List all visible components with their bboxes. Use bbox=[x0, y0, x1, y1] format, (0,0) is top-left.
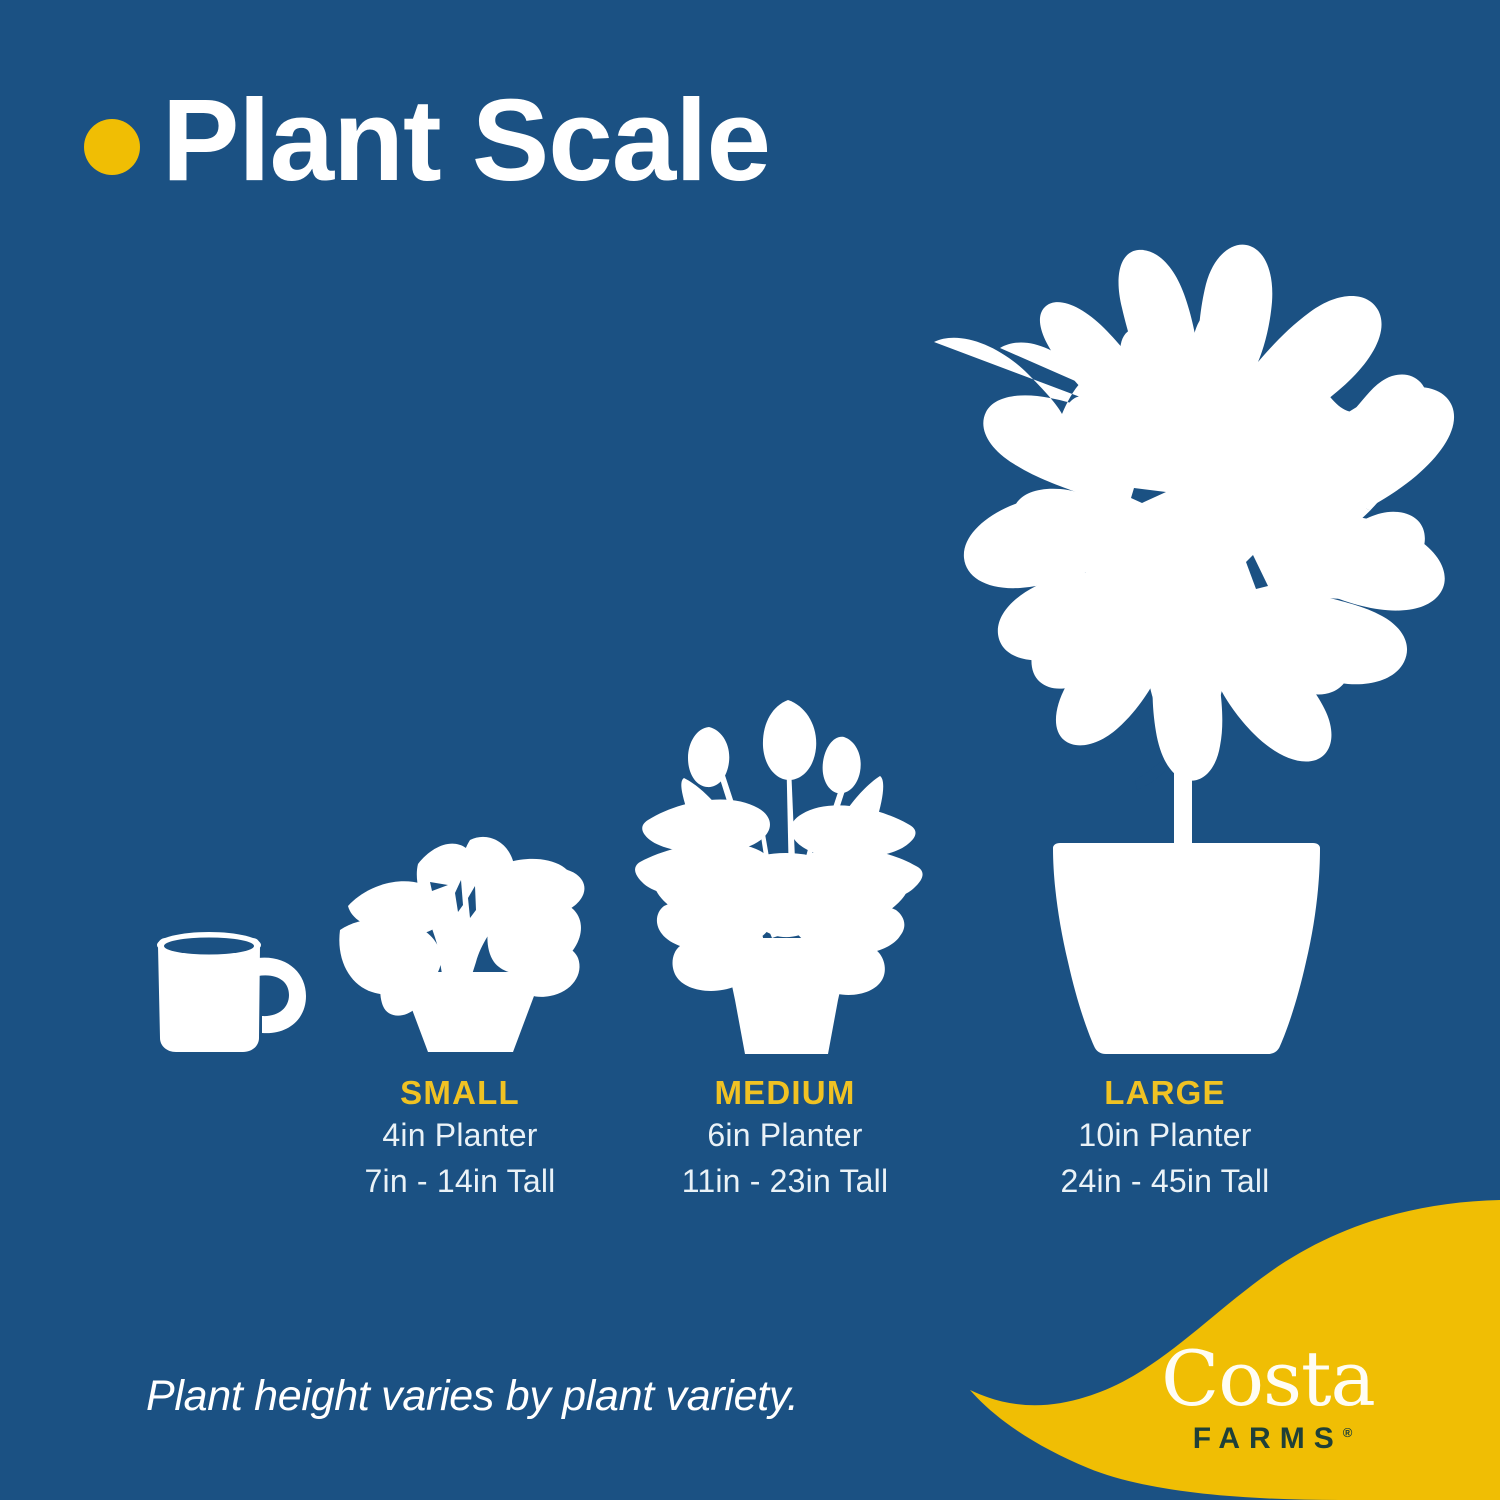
size-tier-small: SMALL bbox=[300, 1072, 620, 1113]
medium-plant-silhouette bbox=[635, 700, 923, 1054]
plant-scale-infographic: Plant Scale bbox=[0, 0, 1500, 1500]
costa-farms-logo: Costa FARMS® bbox=[1128, 1343, 1408, 1456]
coffee-mug-icon bbox=[157, 932, 306, 1052]
size-height-large: 24in - 45in Tall bbox=[1005, 1159, 1325, 1204]
registered-trademark-icon: ® bbox=[1343, 1425, 1353, 1440]
logo-wordmark: Costa bbox=[1128, 1343, 1408, 1416]
size-label-large: LARGE 10in Planter 24in - 45in Tall bbox=[1005, 1072, 1325, 1204]
size-height-small: 7in - 14in Tall bbox=[300, 1159, 620, 1204]
size-label-medium: MEDIUM 6in Planter 11in - 23in Tall bbox=[625, 1072, 945, 1204]
size-tier-medium: MEDIUM bbox=[625, 1072, 945, 1113]
size-height-medium: 11in - 23in Tall bbox=[625, 1159, 945, 1204]
size-planter-medium: 6in Planter bbox=[625, 1113, 945, 1158]
size-tier-large: LARGE bbox=[1005, 1072, 1325, 1113]
logo-farms-text: FARMS bbox=[1193, 1422, 1343, 1455]
footnote-text: Plant height varies by plant variety. bbox=[146, 1372, 799, 1421]
large-plant-silhouette bbox=[934, 245, 1454, 1054]
small-plant-silhouette bbox=[339, 837, 584, 1052]
brand-corner: Costa FARMS® bbox=[940, 1200, 1500, 1500]
size-planter-small: 4in Planter bbox=[300, 1113, 620, 1158]
size-planter-large: 10in Planter bbox=[1005, 1113, 1325, 1158]
size-label-small: SMALL 4in Planter 7in - 14in Tall bbox=[300, 1072, 620, 1204]
logo-subwordmark: FARMS® bbox=[1184, 1422, 1353, 1456]
